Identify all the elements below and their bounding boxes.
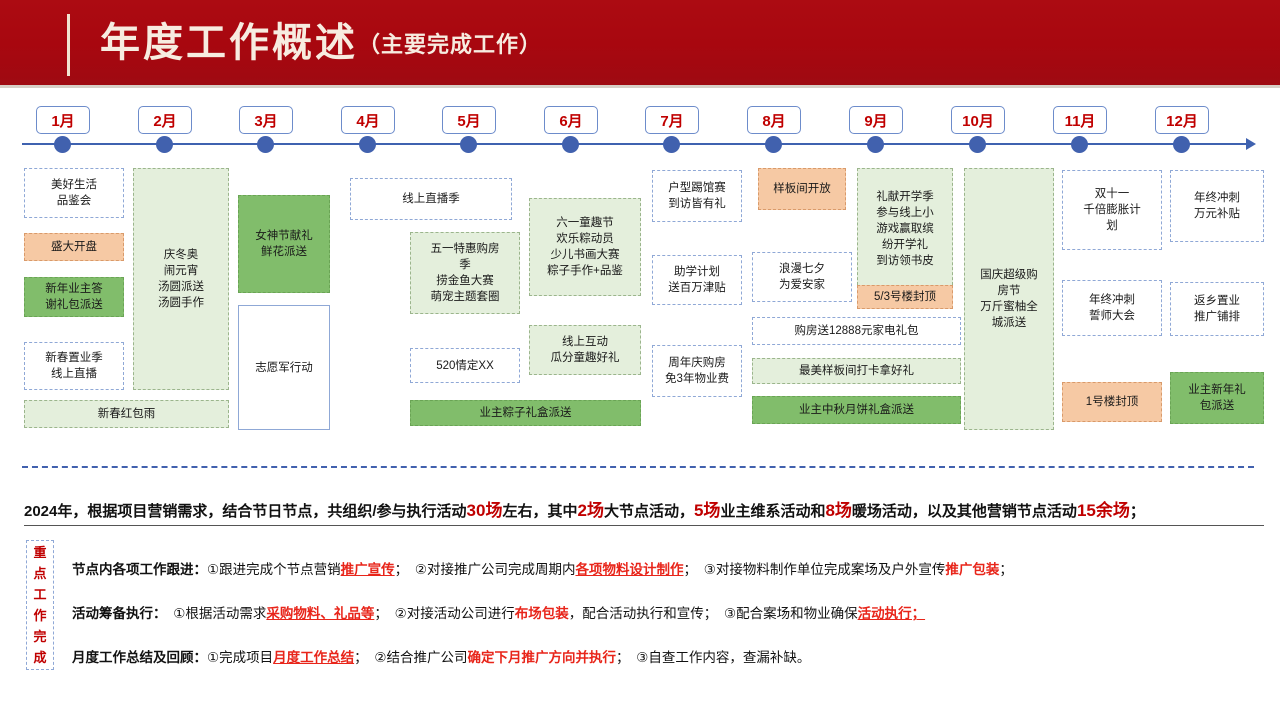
activity-card-label: 户型踢馆赛到访皆有礼 (668, 180, 726, 212)
activity-card[interactable]: 助学计划送百万津贴 (652, 255, 742, 305)
timeline-dot-2 (156, 136, 173, 153)
activity-card[interactable]: 最美样板间打卡拿好礼 (752, 358, 961, 384)
activity-card[interactable]: 样板间开放 (758, 168, 846, 210)
timeline-month-12[interactable]: 12月 (1155, 106, 1209, 134)
activity-card[interactable]: 年终冲刺万元补贴 (1170, 170, 1264, 242)
activity-card[interactable]: 5/3号楼封顶 (857, 285, 953, 309)
timeline-month-2[interactable]: 2月 (138, 106, 192, 134)
activity-card[interactable]: 520情定XX (410, 348, 520, 383)
activity-card-label: 新年业主答谢礼包派送 (45, 281, 103, 313)
activity-card[interactable]: 新春红包雨 (24, 400, 229, 428)
activity-card-label: 庆冬奥闹元宵汤圆派送汤圆手作 (158, 247, 204, 311)
activity-card[interactable]: 业主新年礼包派送 (1170, 372, 1264, 424)
key-work-text: ①完成项目 (207, 650, 273, 665)
key-work-text: ； ③自查工作内容，查漏补缺。 (616, 650, 810, 665)
key-work-highlight: 确定下月推广方向并执行 (467, 650, 616, 665)
activity-card-label: 年终冲刺誓师大会 (1089, 292, 1135, 324)
timeline-month-10[interactable]: 10月 (951, 106, 1005, 134)
activity-card-label: 返乡置业推广铺排 (1194, 293, 1240, 325)
key-work-row-1: 节点内各项工作跟进：①跟进完成个节点营销推广宣传； ②对接推广公司完成周期内各项… (72, 558, 1013, 578)
activity-card[interactable]: 国庆超级购房节万斤蜜柚全城派送 (964, 168, 1054, 430)
key-work-lead: 活动筹备执行： (72, 606, 173, 621)
summary-part-1: 2024年，根据项目营销需求，结合节日节点，共组织/参与执行活动 (24, 503, 467, 520)
timeline-arrow-icon (1246, 138, 1256, 150)
key-work-row-3: 月度工作总结及回顾：①完成项目月度工作总结； ②结合推广公司确定下月推广方向并执… (72, 646, 810, 666)
activity-card-label: 礼献开学季参与线上小游戏赢取缤纷开学礼到访领书皮 (876, 189, 934, 269)
timeline-dot-12 (1173, 136, 1190, 153)
timeline-dot-11 (1071, 136, 1088, 153)
key-work-highlight: 各项物料设计制作 (575, 562, 683, 577)
timeline-month-9[interactable]: 9月 (849, 106, 903, 134)
timeline-month-8[interactable]: 8月 (747, 106, 801, 134)
page-title-sub: （主要完成工作） (358, 32, 542, 57)
activity-card-label: 业主粽子礼盒派送 (480, 405, 572, 421)
activity-card[interactable]: 返乡置业推广铺排 (1170, 282, 1264, 336)
activity-card-label: 助学计划送百万津贴 (668, 264, 726, 296)
activity-card-label: 业主中秋月饼礼盒派送 (799, 402, 914, 418)
key-work-highlight: 活动执行； (858, 606, 926, 621)
activity-card-label: 国庆超级购房节万斤蜜柚全城派送 (980, 267, 1038, 331)
key-work-highlight: 布场包装 (515, 606, 569, 621)
activity-card[interactable]: 新春置业季线上直播 (24, 342, 124, 390)
summary-count-owner: 5场 (694, 501, 720, 520)
timeline-dot-9 (867, 136, 884, 153)
key-work-text: ①跟进完成个节点营销 (207, 562, 341, 577)
activity-card-label: 年终冲刺万元补贴 (1194, 190, 1240, 222)
page-title: 年度工作概述（主要完成工作） (100, 12, 542, 74)
activity-card[interactable]: 五一特惠购房季捞金鱼大赛萌宠主题套圈 (410, 232, 520, 314)
vertical-label-char: 重 (33, 542, 46, 563)
timeline-month-11[interactable]: 11月 (1053, 106, 1107, 134)
activity-card-label: 志愿军行动 (255, 360, 313, 376)
activity-card[interactable]: 新年业主答谢礼包派送 (24, 277, 124, 317)
summary-part-4: 业主维系活动和 (720, 503, 825, 520)
timeline-dot-10 (969, 136, 986, 153)
activity-card[interactable]: 六一童趣节欢乐粽动员少儿书画大赛粽子手作+品鉴 (529, 198, 641, 296)
header-divider (0, 85, 1280, 88)
activity-card-label: 样板间开放 (773, 181, 831, 197)
timeline-month-7[interactable]: 7月 (645, 106, 699, 134)
header-accent-bar (67, 14, 70, 76)
activity-card-label: 女神节献礼鲜花派送 (255, 228, 313, 260)
key-work-text: ； ③对接物料制作单位完成案场及户外宣传 (683, 562, 945, 577)
key-work-highlight: 月度工作总结 (273, 650, 354, 665)
activity-card-label: 线上互动瓜分童趣好礼 (551, 334, 620, 366)
summary-line: 2024年，根据项目营销需求，结合节日节点，共组织/参与执行活动30场左右，其中… (24, 496, 1264, 526)
timeline-month-6[interactable]: 6月 (544, 106, 598, 134)
activity-card[interactable]: 线上互动瓜分童趣好礼 (529, 325, 641, 375)
timeline-dot-8 (765, 136, 782, 153)
vertical-label-char: 点 (33, 563, 46, 584)
activity-card-label: 新春红包雨 (98, 406, 156, 422)
activity-card-label: 美好生活品鉴会 (51, 177, 97, 209)
timeline-dot-1 (54, 136, 71, 153)
activity-card[interactable]: 户型踢馆赛到访皆有礼 (652, 170, 742, 222)
section-divider (22, 466, 1254, 468)
activity-card-label: 浪漫七夕为爱安家 (779, 261, 825, 293)
activity-card[interactable]: 志愿军行动 (238, 305, 330, 430)
timeline-month-1[interactable]: 1月 (36, 106, 90, 134)
activity-card[interactable]: 双十一千倍膨胀计划 (1062, 170, 1162, 250)
summary-count-major: 2场 (577, 501, 603, 520)
page-header: 年度工作概述（主要完成工作） (0, 0, 1280, 88)
timeline-dot-3 (257, 136, 274, 153)
timeline-dot-7 (663, 136, 680, 153)
activity-card[interactable]: 业主粽子礼盒派送 (410, 400, 641, 426)
key-work-text: ①根据活动需求 (173, 606, 266, 621)
vertical-label-char: 作 (33, 605, 46, 626)
activity-card[interactable]: 购房送12888元家电礼包 (752, 317, 961, 345)
activity-card-label: 最美样板间打卡拿好礼 (799, 363, 914, 379)
activity-card[interactable]: 周年庆购房免3年物业费 (652, 345, 742, 397)
vertical-label-char: 完 (33, 626, 46, 647)
summary-part-3: 大节点活动， (604, 503, 694, 520)
vertical-label-char: 工 (33, 584, 46, 605)
activity-card[interactable]: 浪漫七夕为爱安家 (752, 252, 852, 302)
activity-card[interactable]: 线上直播季 (350, 178, 512, 220)
vertical-label-char: 成 (33, 647, 46, 668)
summary-part-5: 暖场活动，以及其他营销节点活动 (852, 503, 1077, 520)
activity-card-label: 线上直播季 (402, 191, 460, 207)
key-work-text: ； ②对接推广公司完成周期内 (395, 562, 576, 577)
activity-card-label: 1号楼封顶 (1086, 394, 1138, 410)
activity-card[interactable]: 美好生活品鉴会 (24, 168, 124, 218)
key-work-row-2: 活动筹备执行： ①根据活动需求采购物料、礼品等； ②对接活动公司进行布场包装，配… (72, 602, 925, 622)
summary-count-other: 15余场 (1077, 501, 1130, 520)
timeline-month-4[interactable]: 4月 (341, 106, 395, 134)
activity-card-label: 购房送12888元家电礼包 (795, 323, 919, 339)
key-work-highlight: 采购物料、礼品等 (266, 606, 374, 621)
activity-card[interactable]: 盛大开盘 (24, 233, 124, 261)
activity-card-label: 5/3号楼封顶 (874, 289, 936, 305)
activity-card-label: 六一童趣节欢乐粽动员少儿书画大赛粽子手作+品鉴 (547, 215, 623, 279)
timeline-dot-6 (562, 136, 579, 153)
summary-part-2: 左右，其中 (502, 503, 577, 520)
activity-card-label: 新春置业季线上直播 (45, 350, 103, 382)
key-work-text: ，配合活动执行和宣传； ③配合案场和物业确保 (569, 606, 858, 621)
activity-card[interactable]: 年终冲刺誓师大会 (1062, 280, 1162, 336)
activity-card-label: 周年庆购房免3年物业费 (665, 355, 729, 387)
summary-count-warmup: 8场 (825, 501, 851, 520)
activity-card[interactable]: 1号楼封顶 (1062, 382, 1162, 422)
timeline-month-5[interactable]: 5月 (442, 106, 496, 134)
summary-count-total: 30场 (467, 501, 503, 520)
key-work-text: ； ②对接活动公司进行 (374, 606, 514, 621)
key-work-lead: 月度工作总结及回顾： (72, 650, 207, 665)
activity-card[interactable]: 礼献开学季参与线上小游戏赢取缤纷开学礼到访领书皮 (857, 168, 953, 290)
activity-card-label: 五一特惠购房季捞金鱼大赛萌宠主题套圈 (431, 241, 500, 305)
timeline-month-3[interactable]: 3月 (239, 106, 293, 134)
activity-card-label: 盛大开盘 (51, 239, 97, 255)
timeline-dot-5 (460, 136, 477, 153)
timeline-dot-4 (359, 136, 376, 153)
key-work-highlight: 推广宣传 (341, 562, 395, 577)
activity-card[interactable]: 业主中秋月饼礼盒派送 (752, 396, 961, 424)
key-work-highlight: 推广包装 (945, 562, 999, 577)
summary-part-6: ； (1130, 503, 1145, 520)
activity-card-label: 双十一千倍膨胀计划 (1083, 186, 1141, 234)
activity-card[interactable]: 庆冬奥闹元宵汤圆派送汤圆手作 (133, 168, 229, 390)
timeline-axis (22, 143, 1250, 145)
activity-card-label: 520情定XX (436, 358, 494, 374)
key-work-text: ； ②结合推广公司 (354, 650, 467, 665)
page-title-main: 年度工作概述 (100, 21, 358, 65)
activity-card[interactable]: 女神节献礼鲜花派送 (238, 195, 330, 293)
activity-card-label: 业主新年礼包派送 (1188, 382, 1246, 414)
key-work-vertical-label: 重点工作完成 (26, 540, 54, 670)
key-work-lead: 节点内各项工作跟进： (72, 562, 207, 577)
key-work-text: ； (999, 562, 1013, 577)
